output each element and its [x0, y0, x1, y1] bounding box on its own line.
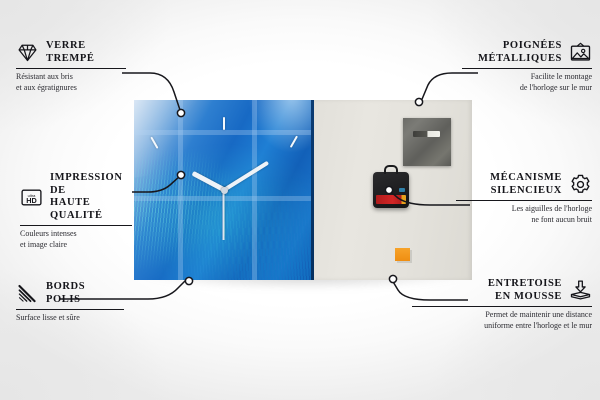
callout-impression-haute-qualite: ultra HD IMPRESSION DE HAUTE QUALITÉ Cou…: [20, 172, 140, 250]
foam-spacer: [395, 248, 410, 261]
infographic-canvas: VERRE TREMPÉ Résistant aux bris et aux é…: [0, 0, 600, 400]
callout-verre-trempe: VERRE TREMPÉ Résistant aux bris et aux é…: [16, 40, 126, 93]
hour-tick: [150, 137, 158, 149]
callout-title: POIGNÉES MÉTALLIQUES: [478, 40, 562, 65]
callout-bords-polis: BORDS POLIS Surface lisse et sûre: [16, 281, 126, 324]
callout-title: ENTRETOISE EN MOUSSE: [488, 278, 562, 303]
callout-header: ENTRETOISE EN MOUSSE: [412, 278, 592, 303]
callout-rule: [16, 68, 126, 69]
badge-bottom-text: HD: [26, 195, 37, 204]
hour-tick: [223, 117, 225, 130]
callout-header: VERRE TREMPÉ: [16, 40, 126, 65]
hanger-slot: [413, 131, 440, 137]
clock-hand-pivot: [221, 187, 228, 194]
ultra-hd-badge-icon: ultra HD: [20, 186, 43, 209]
callout-title: MÉCANISME SILENCIEUX: [490, 172, 562, 197]
callout-subtitle: Couleurs intenses et image claire: [20, 229, 140, 250]
gear-icon: [569, 173, 592, 196]
second-hand: [223, 190, 225, 240]
minute-hand: [223, 161, 269, 192]
callout-subtitle: Résistant aux bris et aux égratignures: [16, 72, 126, 93]
callout-rule: [16, 309, 124, 310]
callout-header: MÉCANISME SILENCIEUX: [456, 172, 592, 197]
callout-header: BORDS POLIS: [16, 281, 126, 306]
product-image: [134, 100, 472, 280]
callout-subtitle: Surface lisse et sûre: [16, 313, 126, 324]
callout-subtitle: Facilite le montage de l'horloge sur le …: [462, 72, 592, 93]
polished-edge-icon: [16, 282, 39, 305]
diamond-icon: [16, 41, 39, 64]
callout-rule: [412, 306, 592, 307]
mechanism-label: [399, 188, 405, 192]
callout-entretoise-en-mousse: ENTRETOISE EN MOUSSE Permet de maintenir…: [412, 278, 592, 331]
callout-header: POIGNÉES MÉTALLIQUES: [462, 40, 592, 65]
clock-back-face: [314, 100, 472, 280]
callout-mecanisme-silencieux: MÉCANISME SILENCIEUX Les aiguilles de l'…: [456, 172, 592, 225]
callout-subtitle: Permet de maintenir une distance uniform…: [412, 310, 592, 331]
metal-hanger-plate: [403, 118, 451, 166]
mechanism-hook: [384, 165, 398, 174]
callout-title: IMPRESSION DE HAUTE QUALITÉ: [50, 172, 140, 222]
clock-front-face: [134, 100, 314, 280]
callout-rule: [20, 225, 132, 226]
picture-hanger-icon: [569, 41, 592, 64]
foam-spacer-icon: [569, 279, 592, 302]
hour-tick: [290, 136, 298, 148]
clock-dial: [134, 100, 314, 280]
callout-title: BORDS POLIS: [46, 281, 85, 306]
callout-poignees-metalliques: POIGNÉES MÉTALLIQUES Facilite le montage…: [462, 40, 592, 93]
callout-title: VERRE TREMPÉ: [46, 40, 95, 65]
clock-mechanism: [373, 172, 409, 208]
battery: [376, 195, 406, 204]
callout-subtitle: Les aiguilles de l'horloge ne font aucun…: [456, 204, 592, 225]
callout-rule: [462, 68, 592, 69]
callout-header: ultra HD IMPRESSION DE HAUTE QUALITÉ: [20, 172, 140, 222]
callout-rule: [456, 200, 592, 201]
